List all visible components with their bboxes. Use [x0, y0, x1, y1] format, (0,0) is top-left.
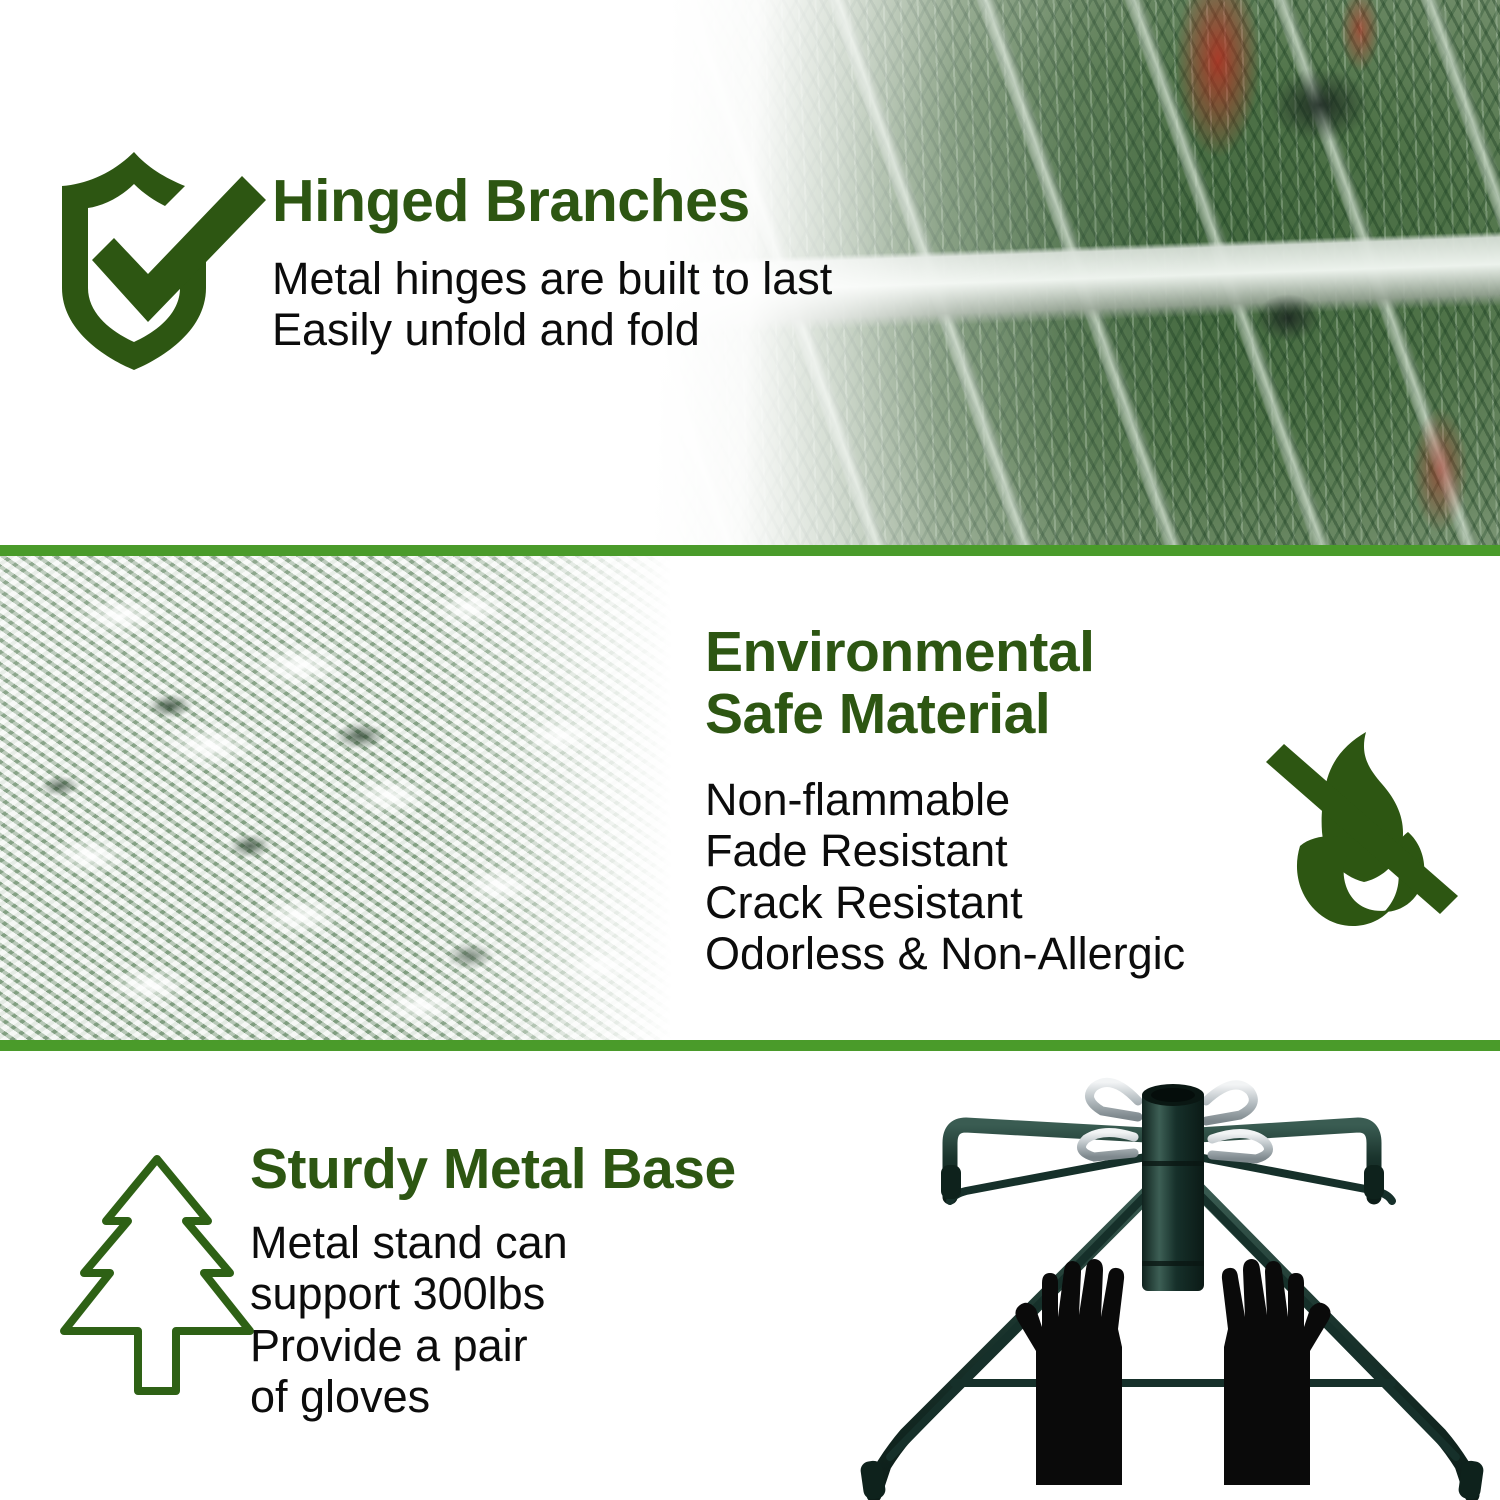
panel-heading: Environmental Safe Material [705, 622, 1094, 745]
section-divider [0, 545, 1500, 556]
panel-body-text: Metal hinges are built to last Easily un… [272, 253, 832, 356]
panel-body-text: Metal stand can support 300lbs Provide a… [250, 1217, 568, 1422]
no-flame-icon [1256, 726, 1466, 938]
shield-check-icon [52, 148, 276, 374]
panel-heading: Sturdy Metal Base [250, 1141, 736, 1198]
panel-sturdy-metal-base: Sturdy Metal Base Metal stand can suppor… [0, 1051, 1500, 1500]
stand-center-tube [1142, 1084, 1204, 1291]
panel-heading-line2: Safe Material [705, 684, 1094, 746]
christmas-tree-outline-icon [58, 1151, 256, 1413]
panel-heading: Hinged Branches [272, 172, 750, 231]
panel-heading-line1: Environmental [705, 622, 1094, 684]
photo-white-fade-overlay [0, 556, 672, 1040]
panel-body-text: Non-flammable Fade Resistant Crack Resis… [705, 774, 1185, 979]
section-divider [0, 1040, 1500, 1051]
infographic-page: Hinged Branches Metal hinges are built t… [0, 0, 1500, 1500]
gloves-pair [1015, 1259, 1330, 1485]
metal-tree-stand-with-gloves-photo [846, 1065, 1500, 1500]
panel-hinged-branches: Hinged Branches Metal hinges are built t… [0, 0, 1500, 545]
